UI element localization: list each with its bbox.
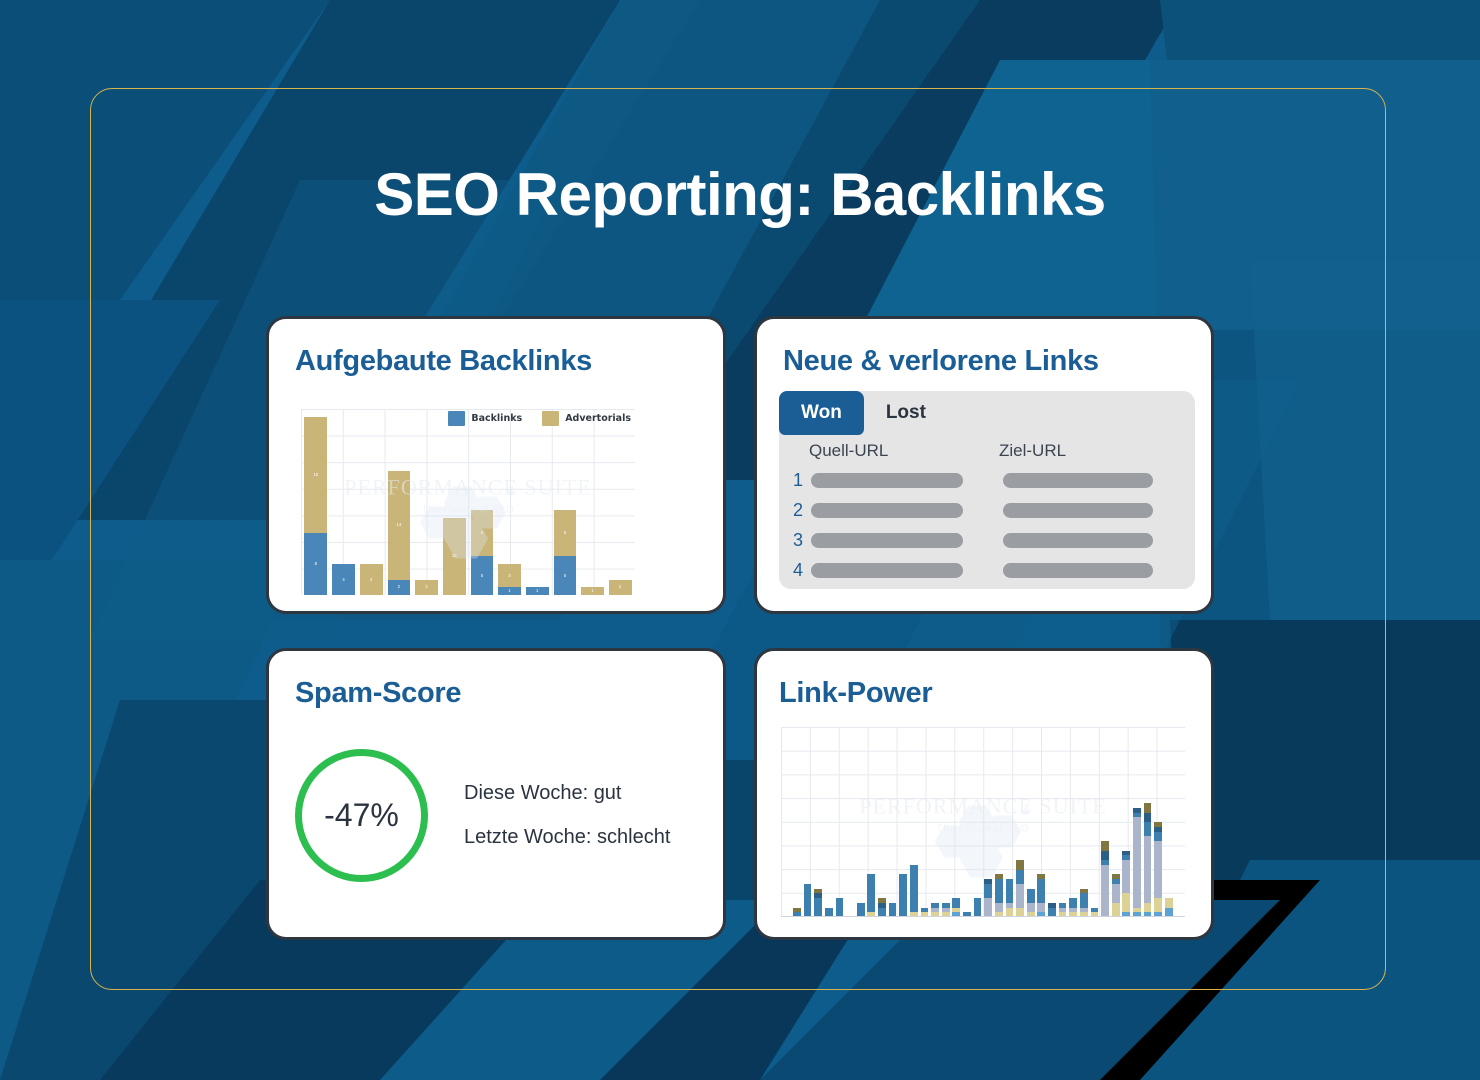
spam-score-gauge: -47% [295,749,428,882]
chart-bar-segment [1165,898,1173,908]
chart-bar-segment: 6 [471,510,494,557]
chart-bar-column [909,727,920,917]
spam-score-body: -47% Diese Woche: gut Letzte Woche: schl… [295,749,670,882]
chart-bar-segment [995,903,1003,913]
chart-bar-segment [1144,903,1152,913]
card-aufgebaute-backlinks: Aufgebaute Backlinks PERFORMANCE SUITE [266,316,726,614]
chart-bar-segment: 6 [554,510,577,557]
chart-bar-segment [1016,860,1024,870]
chart-bar-column [866,727,877,917]
card-neue-verlorene-links: Neue & verlorene Links Won Lost Quell-UR… [754,316,1214,614]
chart-bar-column: 4 [330,409,358,595]
links-column-headers: Quell-URL Ziel-URL [779,435,1195,465]
chart-bar-column [1079,727,1090,917]
legend-label: Advertorials [565,413,631,424]
chart-bar-segment: 4 [360,564,383,595]
legend-label: Backlinks [471,413,522,424]
chart-bar-segment: 2 [388,580,411,596]
card-title-link-power: Link-Power [779,677,1211,710]
chart-bar-segment [1027,889,1035,903]
chart-bar-column: 65 [551,409,579,595]
legend-swatch-icon [448,411,465,426]
chart2-axis-line [781,916,1185,917]
chart2-plot-area: PERFORMANCE SUITE The Future of SEO [781,727,1185,917]
chart-bar-column [1174,727,1185,917]
chart-bar-segment [1006,879,1014,903]
chart-bar-column [1164,727,1175,917]
chart-bar-column [834,727,845,917]
ziel-url-placeholder[interactable] [1003,563,1153,578]
chart1-plot-area: PERFORMANCE SUITE The Future of SEO Back… [301,409,635,595]
chart-bar-column [930,727,941,917]
chart-bar-segment [889,903,897,917]
chart-bar-segment [952,898,960,908]
chart-bar-segment: 1 [526,587,549,595]
chart-bar-column [983,727,994,917]
chart1-bars: 15844142210653116512 [301,409,635,595]
chart-bar-segment [974,898,982,917]
chart-bar-column [1121,727,1132,917]
chart-bar-column [1153,727,1164,917]
quell-url-placeholder[interactable] [811,533,963,548]
chart-bar-segment [1112,884,1120,903]
chart-bar-column [919,727,930,917]
chart-bar-segment [1101,841,1109,851]
chart-bar-segment [1016,870,1024,884]
chart-bar-column: 2 [606,409,634,595]
chart-bar-column [877,727,888,917]
chart-bar-column [962,727,973,917]
chart-bar-column [994,727,1005,917]
legend-item: Advertorials [542,411,631,426]
links-tab-bar: Won Lost [779,391,1195,435]
chart-bar-segment [984,898,992,917]
quell-url-placeholder[interactable] [811,473,963,488]
chart-bar-column [792,727,803,917]
chart-bar-segment: 5 [471,556,494,595]
link-row[interactable]: 4 [789,555,1195,585]
chart-bar-column [845,727,856,917]
chart-bar-column: 65 [468,409,496,595]
chart-bar-column [1057,727,1068,917]
chart-bar-column [887,727,898,917]
chart-bar-column [781,727,792,917]
chart-bar-segment [1080,893,1088,907]
chart-bar-segment: 5 [554,556,577,595]
chart-bar-segment: 8 [304,533,327,595]
link-row[interactable]: 3 [789,525,1195,555]
links-panel: Won Lost Quell-URL Ziel-URL 1234 [779,391,1195,589]
chart-bar-segment [1122,860,1130,893]
page-title: SEO Reporting: Backlinks [0,160,1480,229]
chart-bar-column: 31 [496,409,524,595]
card-title-links: Neue & verlorene Links [783,345,1211,378]
chart-bar-segment: 14 [388,471,411,580]
link-row[interactable]: 2 [789,495,1195,525]
spam-score-value: -47% [324,797,399,834]
link-row[interactable]: 1 [789,465,1195,495]
chart-bar-column [1110,727,1121,917]
chart2-bars [781,727,1185,917]
chart-bar-column: 1 [579,409,607,595]
chart-bar-column [1132,727,1143,917]
link-row-number: 1 [789,470,811,491]
chart-bar-segment: 2 [415,580,438,596]
chart-bar-segment: 10 [443,518,466,596]
legend-item: Backlinks [448,411,522,426]
chart-bar-column [972,727,983,917]
chart-bar-column [1047,727,1058,917]
spam-score-details: Diese Woche: gut Letzte Woche: schlecht [464,782,670,849]
chart-bar-segment [1027,903,1035,913]
chart-bar-segment [1144,822,1152,836]
chart-bar-segment [910,865,918,913]
chart-bar-column [1004,727,1015,917]
spam-line-this-week: Diese Woche: gut [464,782,670,805]
chart-bar-column: 142 [385,409,413,595]
chart-bar-segment [804,884,812,917]
chart-bar-column: 1 [523,409,551,595]
chart-bar-column [1015,727,1026,917]
column-header-quell-url: Quell-URL [809,441,999,461]
chart-bar-segment [1101,865,1109,917]
chart-bar-segment [1016,884,1024,908]
chart-bar-column [940,727,951,917]
tab-won[interactable]: Won [779,391,864,435]
chart-bar-column [898,727,909,917]
tab-lost[interactable]: Lost [864,391,948,435]
chart-aufgebaute-backlinks: PERFORMANCE SUITE The Future of SEO Back… [301,409,635,595]
chart-bar-column: 4 [357,409,385,595]
card-link-power: Link-Power PERFORMANCE SUITE The F [754,648,1214,940]
chart-bar-segment [1154,841,1162,898]
chart-bar-segment [1144,813,1152,823]
chart-bar-segment [1037,879,1045,903]
chart-bar-segment [984,884,992,898]
chart-bar-column [855,727,866,917]
chart-bar-segment: 4 [332,564,355,595]
card-title-spam-score: Spam-Score [295,677,723,710]
chart-bar-segment: 1 [581,587,604,595]
link-row-number: 3 [789,530,811,551]
chart-bar-segment [836,898,844,917]
chart-bar-segment [899,874,907,917]
chart-link-power: PERFORMANCE SUITE The Future of SEO [781,727,1185,917]
chart-bar-segment [995,879,1003,903]
chart-bar-column [813,727,824,917]
chart-bar-segment: 15 [304,417,327,533]
chart-bar-column [802,727,813,917]
chart-bar-segment: 1 [498,587,521,595]
chart-bar-column: 2 [413,409,441,595]
chart-bar-segment [1154,898,1162,912]
dashboard-card-grid: Aufgebaute Backlinks PERFORMANCE SUITE [266,316,1214,946]
chart1-legend: BacklinksAdvertorials [448,411,631,426]
chart-bar-segment [1112,903,1120,917]
chart-bar-column [1025,727,1036,917]
chart-bar-segment: 2 [609,580,632,596]
chart-bar-column [1100,727,1111,917]
chart-bar-segment [1037,903,1045,913]
chart-bar-segment [1154,832,1162,842]
chart-bar-column [1068,727,1079,917]
chart-bar-segment [857,903,865,917]
chart-bar-column [951,727,962,917]
chart-bar-column [824,727,835,917]
link-row-number: 2 [789,500,811,521]
quell-url-placeholder[interactable] [811,563,963,578]
chart-bar-segment [1144,803,1152,813]
quell-url-placeholder[interactable] [811,503,963,518]
chart-bar-column [1089,727,1100,917]
spam-line-last-week: Letzte Woche: schlecht [464,826,670,849]
chart-bar-segment [1144,836,1152,903]
chart-bar-segment: 3 [498,564,521,587]
chart-bar-segment [1133,817,1141,907]
chart-bar-segment [1101,851,1109,861]
card-title-backlinks: Aufgebaute Backlinks [295,345,723,378]
column-header-ziel-url: Ziel-URL [999,441,1066,461]
ziel-url-placeholder[interactable] [1003,473,1153,488]
chart-bar-column: 158 [302,409,330,595]
ziel-url-placeholder[interactable] [1003,533,1153,548]
chart-bar-segment [1069,898,1077,908]
card-spam-score: Spam-Score -47% Diese Woche: gut Letzte … [266,648,726,940]
ziel-url-placeholder[interactable] [1003,503,1153,518]
chart-bar-segment [814,898,822,917]
link-row-number: 4 [789,560,811,581]
chart-bar-column: 10 [440,409,468,595]
chart-bar-segment [1122,893,1130,912]
chart-bar-column [1036,727,1047,917]
legend-swatch-icon [542,411,559,426]
links-rows: 1234 [779,465,1195,585]
chart-bar-segment [867,874,875,912]
chart-bar-column [1142,727,1153,917]
